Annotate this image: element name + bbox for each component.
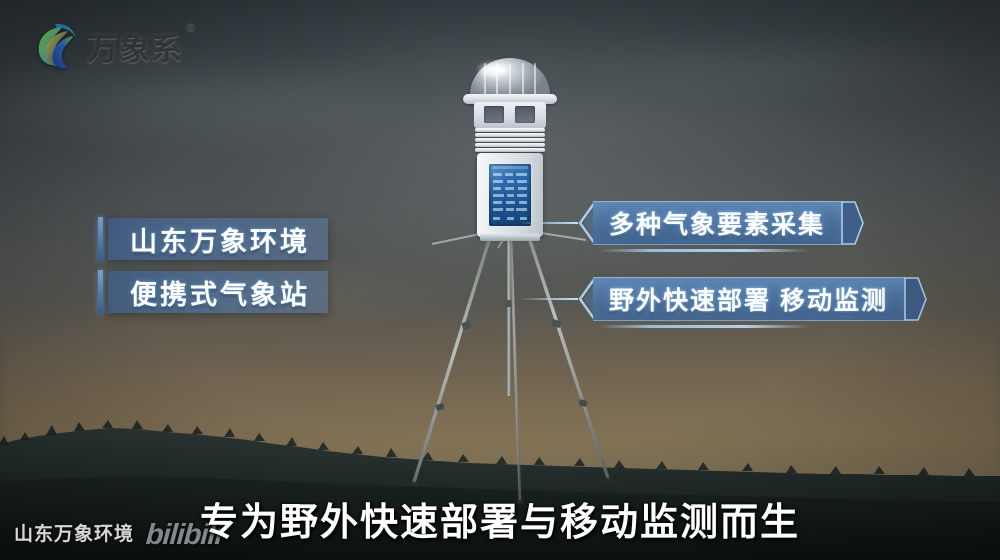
feature-banner-2-label: 野外快速部署 移动监测 [609,281,888,317]
banner-underline [598,249,810,252]
left-banner-company-label: 山东万象环境 [130,220,310,259]
brand-logo-label: 万象系 [87,32,183,67]
feature-banner-1: 多种气象要素采集 [593,201,843,245]
banner-arrow-tip-icon [905,278,927,320]
registered-mark: ® [187,22,196,34]
banner-underline [598,325,810,328]
brand-logo-text: 万象系 ® [87,24,183,69]
feature-callout-2: 野外快速部署 移动监测 [520,277,927,321]
feature-banner-2: 野外快速部署 移动监测 [593,277,906,321]
banner-arrow-tip-icon [842,202,864,244]
callout-connector-line [520,298,578,300]
sensor-window-housing [474,102,546,128]
left-banner-product-label: 便携式气象站 [130,273,310,312]
feature-banner-1-label: 多种气象要素采集 [609,205,825,241]
radiation-shield-plates [475,128,545,152]
feature-callout-1: 多种气象要素采集 [520,201,864,245]
left-banner-company: 山东万象环境 [108,218,328,260]
video-subtitle: 专为野外快速部署与移动监测而生 [0,491,1000,546]
video-frame: 万象系 ® 山东万象环境 便携式气象站 多种气象要素采集 [0,0,1000,560]
globe-swirl-icon [28,20,80,72]
left-title-group: 山东万象环境 便携式气象站 [108,218,328,313]
brand-logo: 万象系 ® [28,20,183,72]
callout-connector-line [520,222,578,224]
left-banner-product: 便携式气象站 [108,271,328,313]
